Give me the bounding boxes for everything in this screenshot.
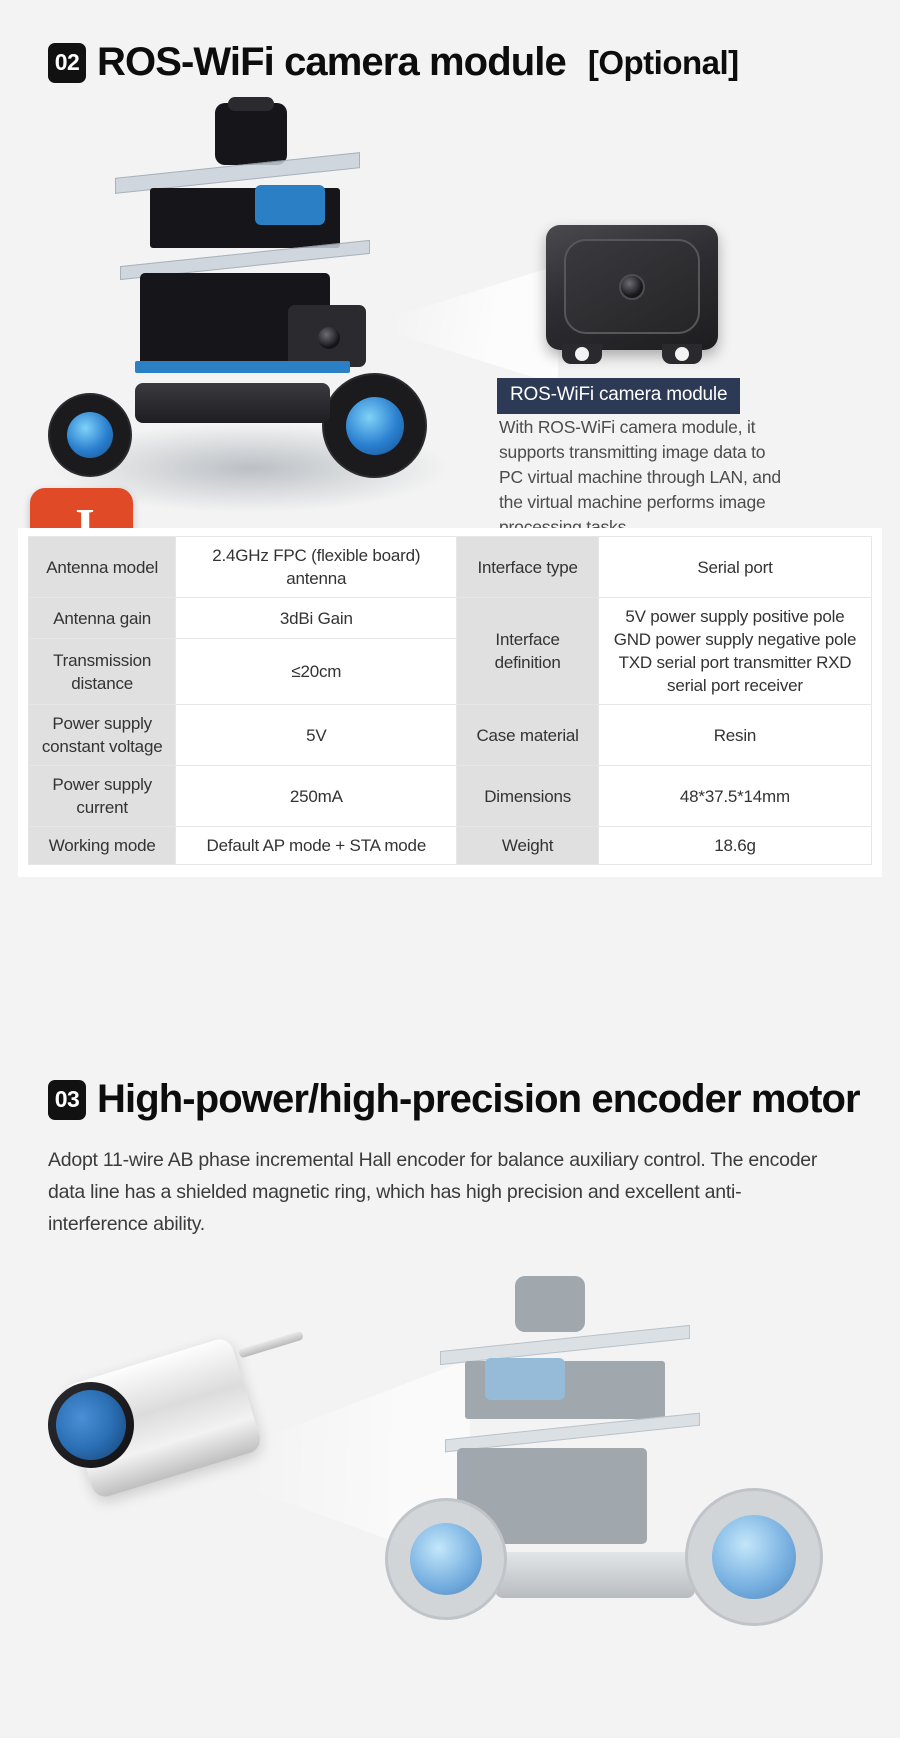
robot-base-plate: [135, 361, 350, 373]
robot-top-motor: [515, 1276, 585, 1332]
robot-wheel-left: [385, 1498, 507, 1620]
spec-value: 5V: [176, 705, 457, 766]
spec-key: Antenna model: [29, 537, 176, 598]
section-03-body-text: Adopt 11-wire AB phase incremental Hall …: [48, 1144, 838, 1240]
spec-key: Transmission distance: [29, 639, 176, 705]
product-detail-page: 02 ROS-WiFi camera module [Optional]: [0, 0, 900, 1748]
camera-module-label: ROS-WiFi camera module: [497, 378, 740, 414]
robot-motor-axle: [495, 1552, 695, 1598]
spec-key: Power supply constant voltage: [29, 705, 176, 766]
section-number-badge: 02: [48, 43, 86, 83]
section-encoder-motor: 03 High-power/high-precision encoder mot…: [0, 1035, 900, 1748]
camera-module-faceplate: [564, 239, 700, 334]
spec-key: Antenna gain: [29, 598, 176, 639]
camera-lens-icon: [619, 274, 645, 300]
camera-module-description: With ROS-WiFi camera module, it supports…: [499, 415, 789, 540]
ultrasonic-sensor: [255, 185, 325, 225]
spec-value: Resin: [598, 705, 871, 766]
robot-top-cap: [228, 97, 274, 111]
spec-key: Working mode: [29, 827, 176, 865]
table-row: Antenna gain 3dBi Gain Interface definit…: [29, 598, 872, 639]
table-row: Power supply constant voltage 5V Case ma…: [29, 705, 872, 766]
spec-key: Dimensions: [457, 766, 599, 827]
spec-value: ≤20cm: [176, 639, 457, 705]
spec-table-container: Antenna model 2.4GHz FPC (flexible board…: [18, 528, 882, 877]
robot-camera-lens: [318, 327, 340, 349]
robot-wheel-right: [322, 373, 427, 478]
page-title: High-power/high-precision encoder motor: [97, 1077, 860, 1122]
spec-key: Interface type: [457, 537, 599, 598]
motor-illustration-area: [0, 1254, 900, 1684]
spec-table: Antenna model 2.4GHz FPC (flexible board…: [28, 536, 872, 865]
spec-value: 3dBi Gain: [176, 598, 457, 639]
page-title: ROS-WiFi camera module: [97, 40, 566, 85]
camera-mount-tab-right: [662, 344, 702, 364]
hero-illustration-area: ROS-WiFi camera module With ROS-WiFi cam…: [0, 85, 900, 500]
spec-value: Default AP mode + STA mode: [176, 827, 457, 865]
motor-shaft: [238, 1331, 304, 1359]
camera-module-image: [546, 225, 718, 350]
robot-car-image: [40, 93, 460, 493]
spec-key: Power supply current: [29, 766, 176, 827]
robot-wheel-left: [48, 393, 132, 477]
section-number-badge: 03: [48, 1080, 86, 1120]
ultrasonic-sensor: [485, 1358, 565, 1400]
page-bottom-divider: [0, 1738, 900, 1748]
spec-key: Interface definition: [457, 598, 599, 705]
section-03-heading: 03 High-power/high-precision encoder mot…: [0, 1035, 900, 1122]
robot-motor-axle: [135, 383, 330, 423]
robot-top-motor: [215, 103, 287, 165]
optional-tag: [Optional]: [588, 44, 739, 82]
section-ros-wifi-camera-module: 02 ROS-WiFi camera module [Optional]: [0, 0, 900, 1035]
section-02-heading: 02 ROS-WiFi camera module [Optional]: [0, 0, 900, 85]
robot-car-ghost-image: [385, 1266, 855, 1666]
spec-value: 48*37.5*14mm: [598, 766, 871, 827]
spec-value: 250mA: [176, 766, 457, 827]
table-row: Antenna model 2.4GHz FPC (flexible board…: [29, 537, 872, 598]
spec-key: Case material: [457, 705, 599, 766]
spec-value: Serial port: [598, 537, 871, 598]
spec-value: 2.4GHz FPC (flexible board) antenna: [176, 537, 457, 598]
table-row: Power supply current 250mA Dimensions 48…: [29, 766, 872, 827]
spec-value: 5V power supply positive pole GND power …: [598, 598, 871, 705]
camera-mount-tab-left: [562, 344, 602, 364]
spec-value: 18.6g: [598, 827, 871, 865]
table-row: Working mode Default AP mode + STA mode …: [29, 827, 872, 865]
spec-key: Weight: [457, 827, 599, 865]
robot-wheel-right: [685, 1488, 823, 1626]
